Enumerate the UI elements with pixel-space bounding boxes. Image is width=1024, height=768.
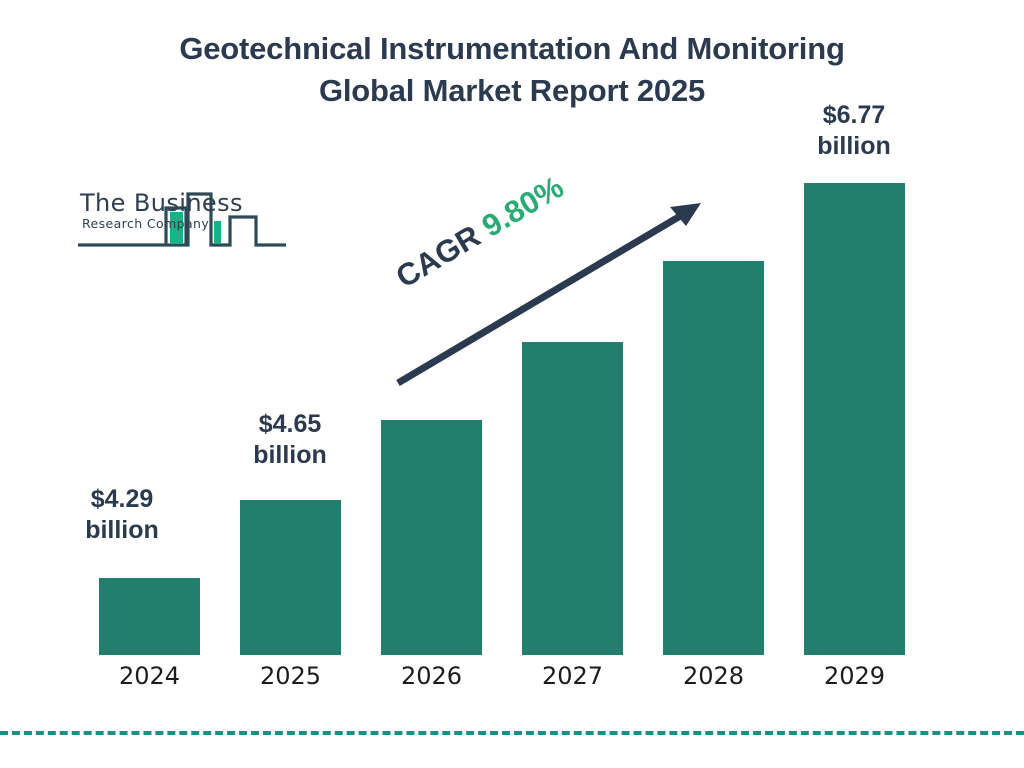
tick-label-2028: 2028 xyxy=(663,662,764,690)
bar-2028[interactable] xyxy=(663,261,764,655)
bar-value-2024: $4.29 billion xyxy=(52,484,192,546)
bar-value-amount-2025: $4.65 xyxy=(220,409,360,440)
bar-value-unit-2029: billion xyxy=(784,131,924,162)
bar-value-unit-2025: billion xyxy=(220,440,360,471)
tick-label-2026: 2026 xyxy=(381,662,482,690)
bar-2029[interactable] xyxy=(804,183,905,655)
tick-label-2029: 2029 xyxy=(804,662,905,690)
bar-value-2029: $6.77 billion xyxy=(784,100,924,162)
tick-label-2027: 2027 xyxy=(522,662,623,690)
logo-line-1: The Business xyxy=(80,190,243,216)
plot-area: $4.29 billion 2024 $4.65 billion 2025 20… xyxy=(0,0,1024,768)
bar-2025[interactable] xyxy=(240,500,341,655)
bar-2027[interactable] xyxy=(522,342,623,655)
bar-2024[interactable] xyxy=(99,578,200,655)
bar-value-unit-2024: billion xyxy=(52,515,192,546)
bar-value-amount-2029: $6.77 xyxy=(784,100,924,131)
bar-value-amount-2024: $4.29 xyxy=(52,484,192,515)
chart-canvas: Geotechnical Instrumentation And Monitor… xyxy=(0,0,1024,768)
bar-value-2025: $4.65 billion xyxy=(220,409,360,471)
logo-wordmark: The Business Research Company xyxy=(80,190,243,232)
tick-label-2024: 2024 xyxy=(99,662,200,690)
footer-divider xyxy=(0,731,1024,735)
bar-2026[interactable] xyxy=(381,420,482,655)
logo-line-2: Research Company xyxy=(82,216,243,232)
tick-label-2025: 2025 xyxy=(240,662,341,690)
